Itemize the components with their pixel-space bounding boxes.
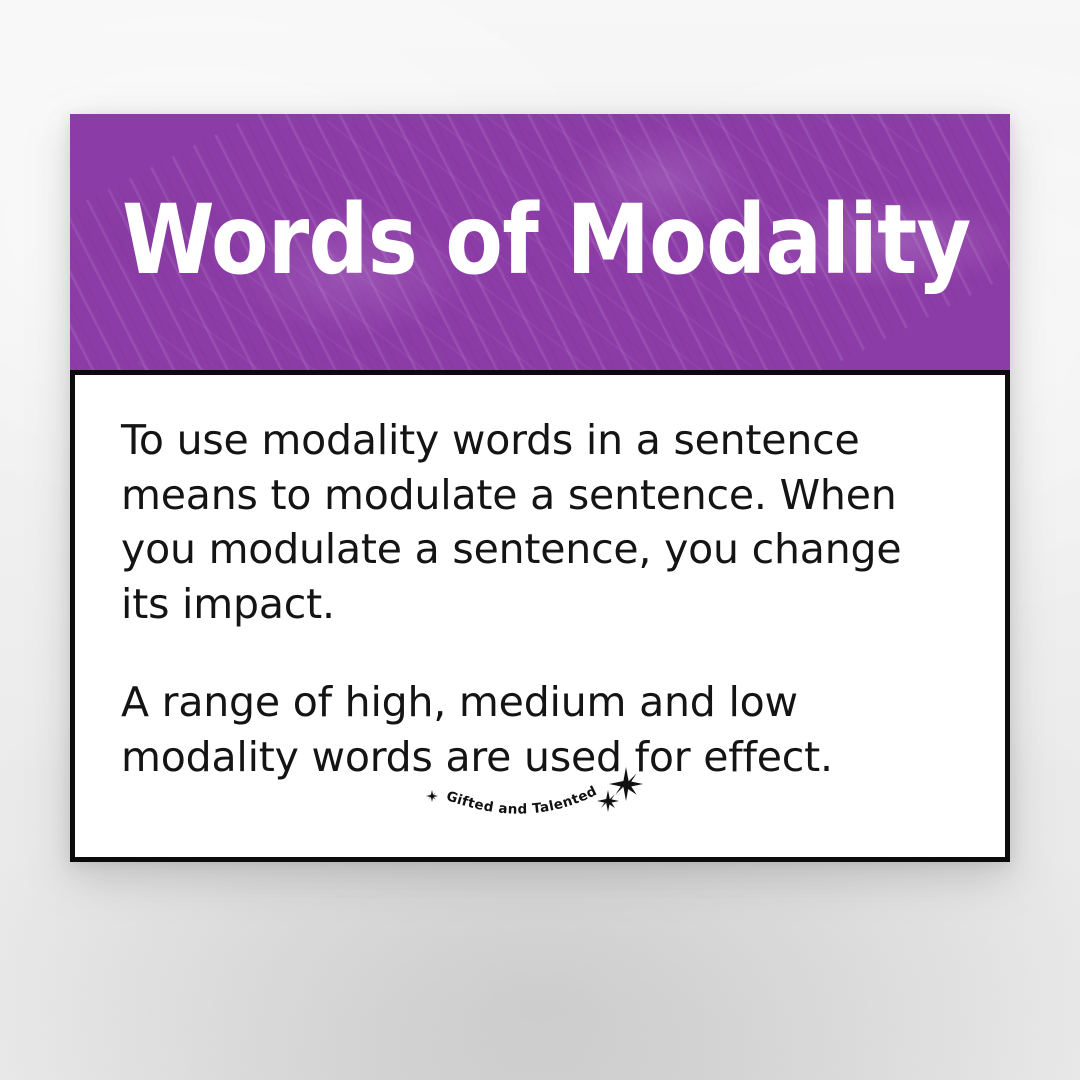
card-header: Words of Modality — [70, 114, 1010, 370]
body-paragraph-2: A range of high, medium and low modality… — [121, 675, 959, 784]
page-title: Words of Modality — [122, 192, 865, 288]
sparkle-large-right-icon — [609, 767, 643, 801]
sparkle-small-left-icon — [426, 790, 438, 802]
card-body: To use modality words in a sentence mean… — [70, 370, 1010, 862]
body-paragraph-1: To use modality words in a sentence mean… — [121, 413, 959, 631]
poster-card: Words of Modality To use modality words … — [70, 114, 1010, 862]
brand-signature: Gifted and Talented Teacher — [75, 771, 1005, 835]
